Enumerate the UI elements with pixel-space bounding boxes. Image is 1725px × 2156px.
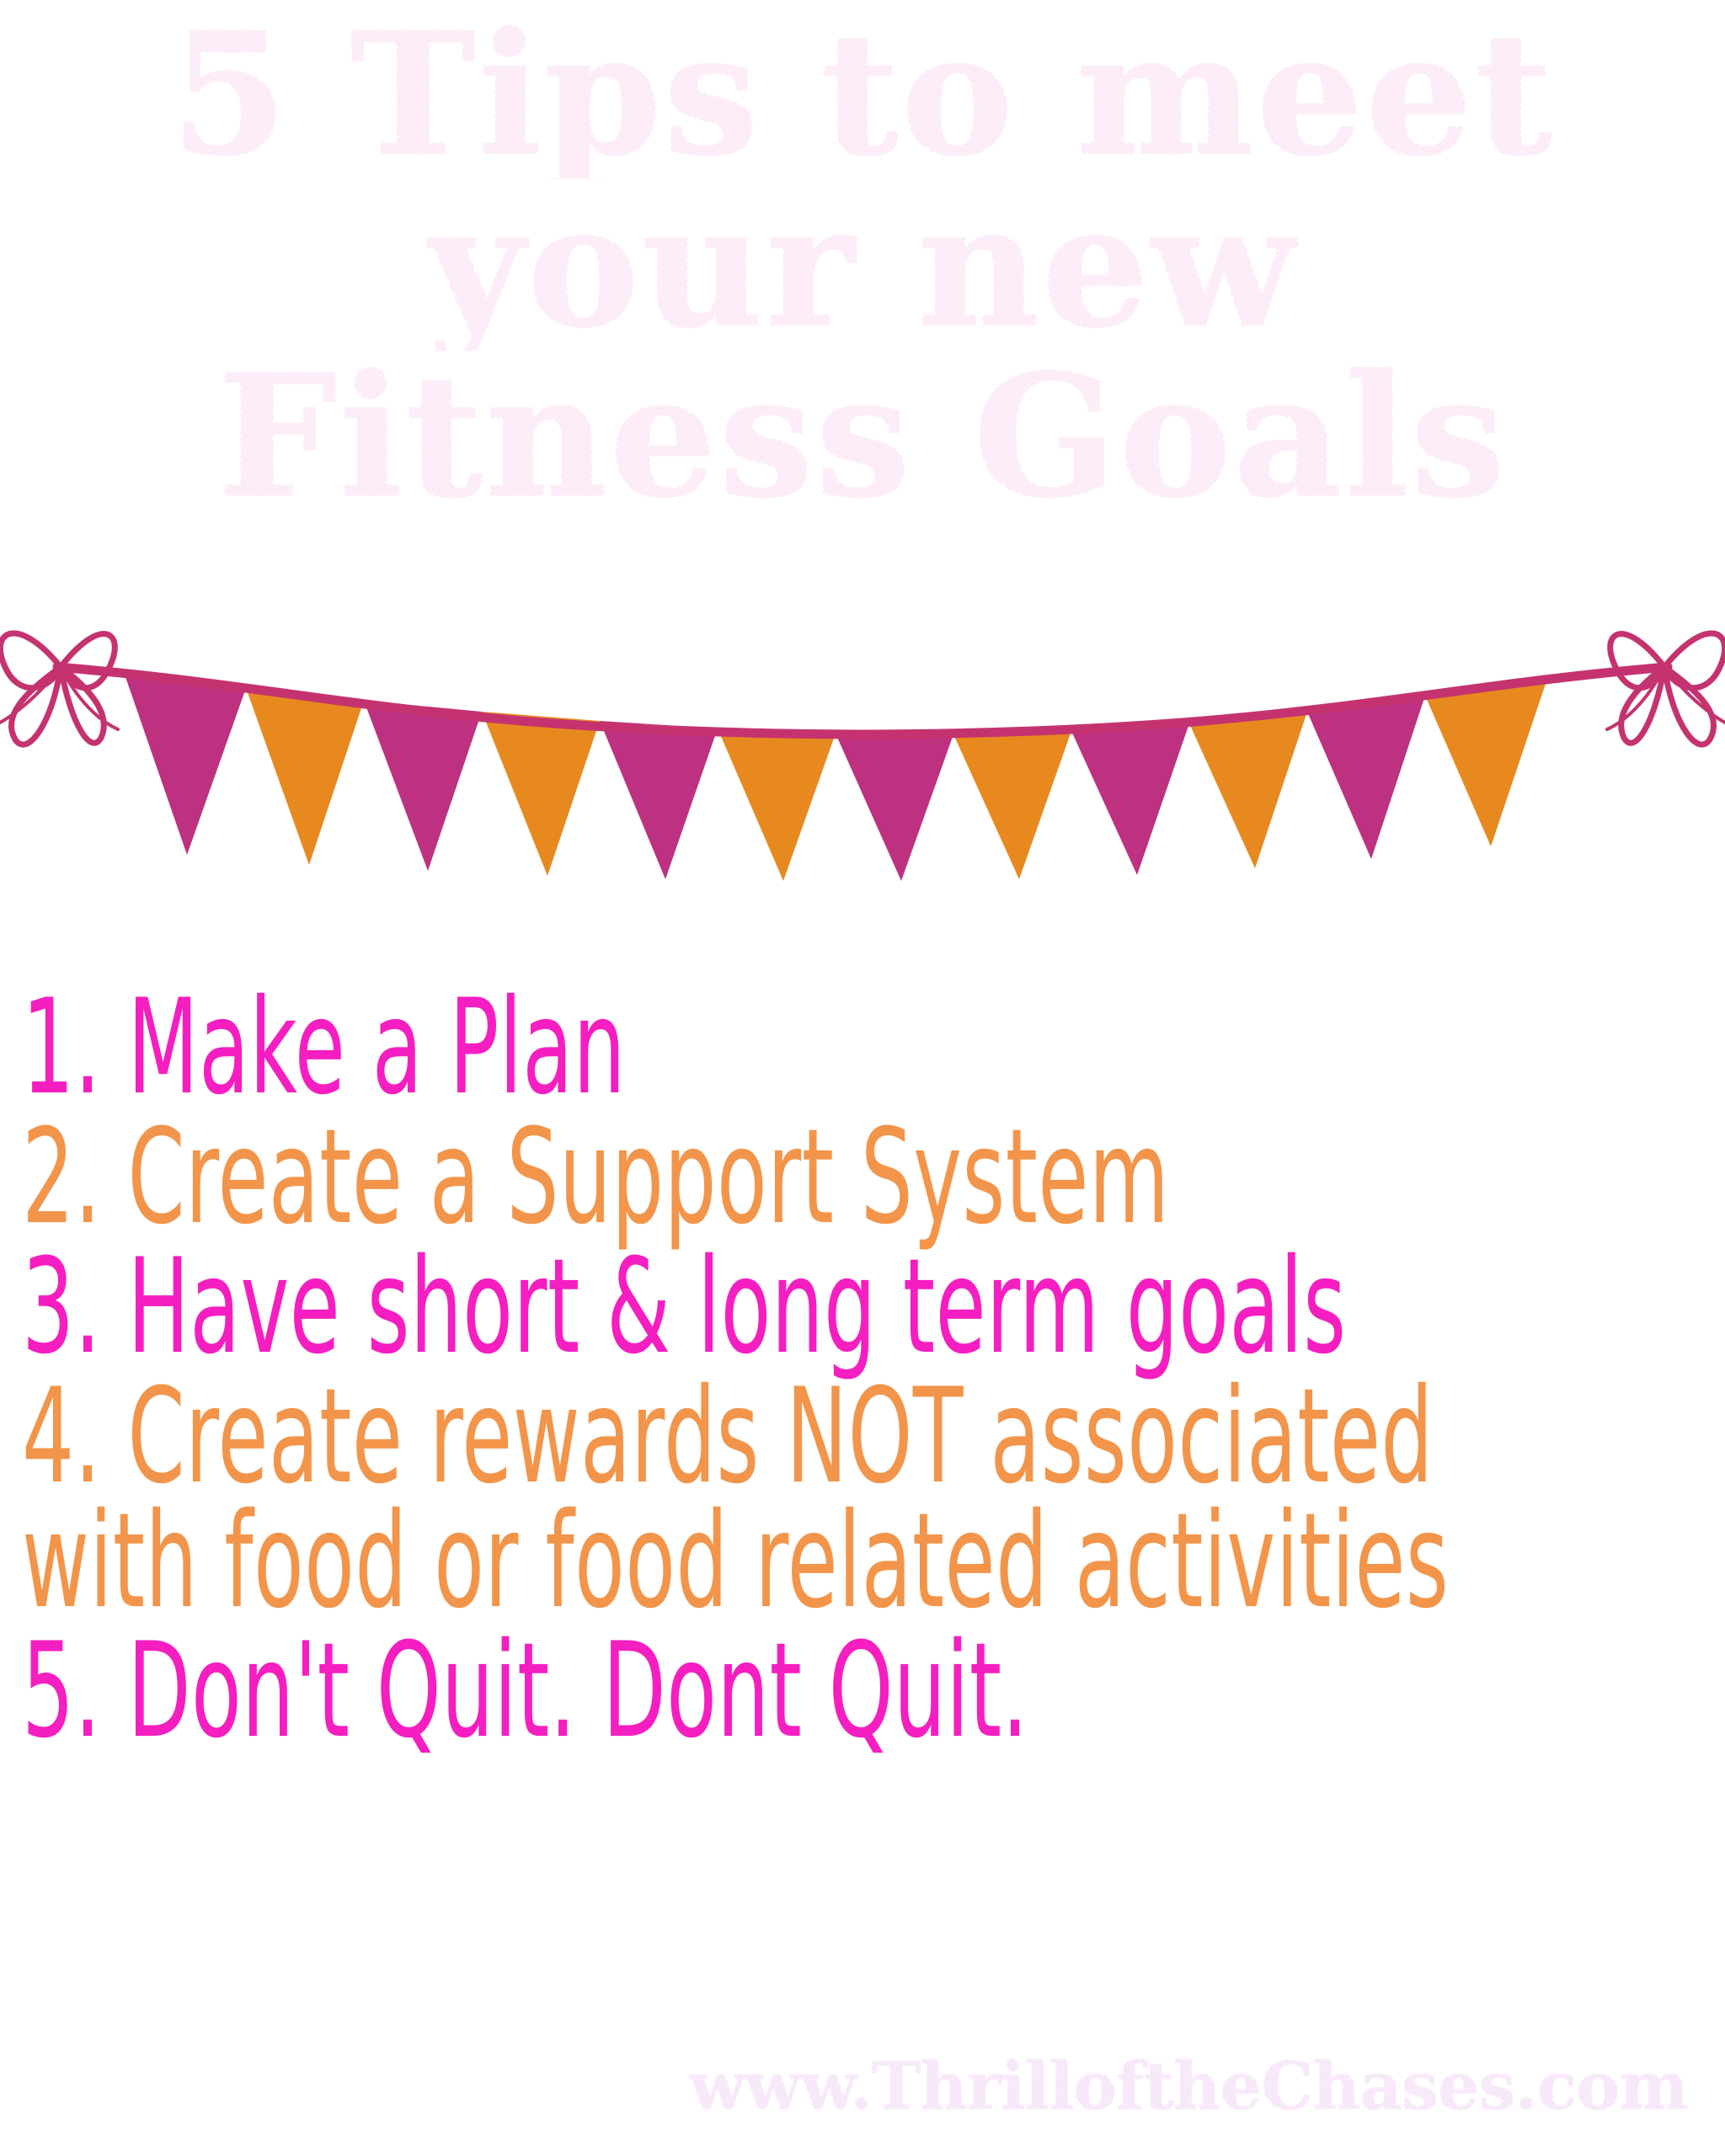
title-line-3: Fitness Goals [0,354,1725,520]
title-line-2: your new [0,184,1725,350]
tip-item-1: 1. Make a Plan [22,982,1268,1113]
title-line-1: 5 Tips to meet [0,12,1725,179]
bunting-banner [0,590,1725,884]
pennant-3 [364,701,482,871]
pennant-11 [1307,696,1425,859]
tip-item-4-continuation: with food or food related activities [22,1496,1268,1627]
website-url: www.ThrilloftheChases.com [689,2048,1688,2125]
title-line-2-text: your new [427,184,1298,350]
tips-list: 1. Make a Plan 2. Create a Support Syste… [22,992,1706,1765]
pennant-9 [1071,723,1189,875]
pennant-10 [1189,712,1307,868]
pennant-8 [953,731,1071,879]
pennant-12 [1425,676,1548,846]
title-line-1-text: 5 Tips to meet [170,12,1554,179]
bow-knot-right-icon [1607,633,1725,744]
pennant-4 [482,712,600,876]
bow-knot-left-icon [0,633,118,744]
title-line-3-text: Fitness Goals [217,354,1507,520]
pennant-6 [718,728,836,881]
pennant-5 [600,721,718,879]
pennant-1 [125,675,246,855]
pennant-7 [836,734,953,881]
footer: www.ThrilloftheChases.com [0,2048,1725,2125]
tip-item-5: 5. Don't Quit. Dont Quit. [22,1625,1268,1757]
pennant-2 [246,688,364,865]
tip-item-2: 2. Create a Support System [22,1112,1268,1243]
poster-canvas: 5 Tips to meet your new Fitness Goals [0,0,1725,2156]
poster-title: 5 Tips to meet your new Fitness Goals [0,12,1725,520]
tip-item-3: 3. Have short & long term goals [22,1241,1268,1373]
bunting-svg [0,590,1725,884]
tip-item-4: 4. Create rewards NOT associated [22,1371,1268,1502]
